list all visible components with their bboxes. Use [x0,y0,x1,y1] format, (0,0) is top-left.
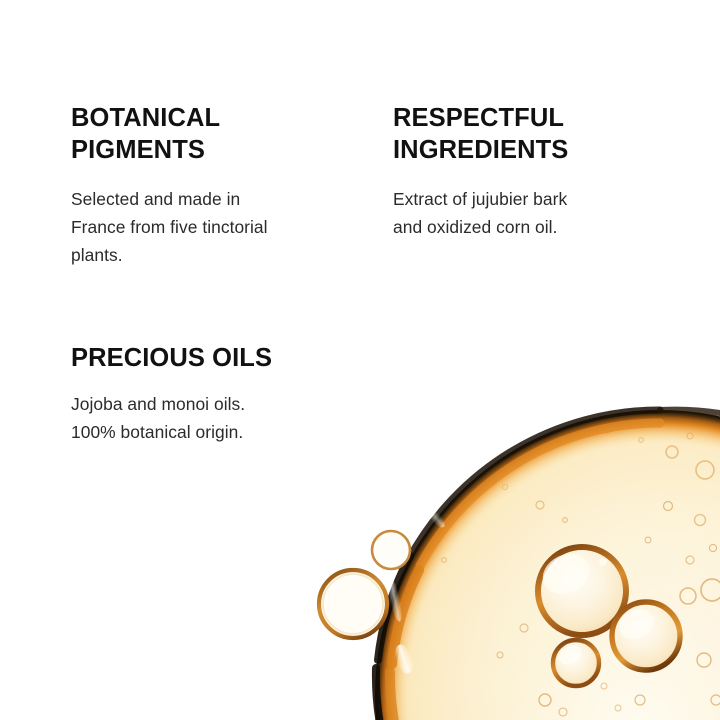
feature-body-precious-oils: Jojoba and monoi oils. 100% botanical or… [71,390,381,446]
outer-large-bubble [319,570,387,638]
outer-small-bubble [372,531,410,569]
inner-large-bubble [538,547,626,635]
feature-title-precious-oils: PRECIOUS OILS [71,342,381,374]
outer-bubble-group [319,531,410,638]
feature-body-respectful-ingredients: Extract of jujubier bark and oxidized co… [393,185,693,241]
inner-bubble-group [536,547,680,686]
feature-title-respectful-ingredients: RESPECTFUL INGREDIENTS [393,102,693,166]
oil-droplet-body [375,410,720,720]
feature-body-botanical-pigments: Selected and made in France from five ti… [71,185,371,269]
feature-botanical-pigments: BOTANICAL PIGMENTS Selected and made in … [71,102,371,269]
micro-bubble-texture [442,427,720,716]
feature-precious-oils: PRECIOUS OILS Jojoba and monoi oils. 100… [71,342,381,446]
product-benefits-panel: BOTANICAL PIGMENTS Selected and made in … [0,0,720,720]
feature-respectful-ingredients: RESPECTFUL INGREDIENTS Extract of jujubi… [393,102,693,241]
inner-medium-bubble [612,602,680,670]
inner-small-bubble [553,640,599,686]
feature-title-botanical-pigments: BOTANICAL PIGMENTS [71,102,371,166]
